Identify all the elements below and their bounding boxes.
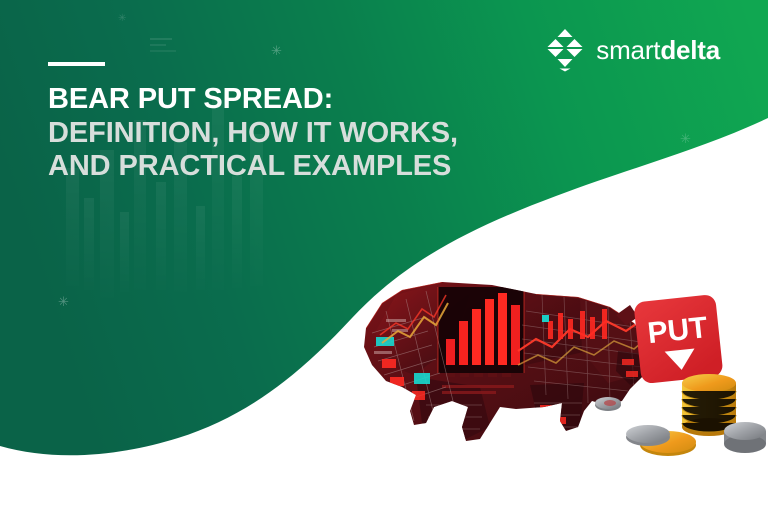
title-rule: [48, 62, 105, 66]
page-title-line-2: Definition, How It Works, And Practical …: [48, 117, 478, 184]
bear-figure: [364, 275, 650, 441]
brand-name-light: smart: [596, 35, 660, 65]
page-title-line-1: Bear Put Spread:: [48, 83, 478, 117]
brand-logo-text: smartdelta: [596, 37, 720, 63]
silver-coin-stray: [595, 397, 621, 411]
brand-logo[interactable]: smartdelta: [545, 28, 720, 72]
sparkle-icon: ✳: [118, 14, 126, 24]
silver-coin-small: [626, 425, 670, 446]
diamond-triangles-icon: [545, 28, 585, 72]
illustration-svg: PUT: [330, 255, 768, 470]
page-title: Bear Put Spread: Definition, How It Work…: [48, 83, 478, 184]
banner-image: ✳ ✳ ✳ ✳ smartdelta: [0, 0, 768, 511]
illustration-group: PUT: [330, 255, 768, 470]
sparkle-icon: ✳: [271, 44, 282, 57]
put-sign-label: PUT: [646, 311, 709, 350]
sparkle-icon: ✳: [680, 132, 691, 145]
silver-coin-right: [724, 422, 766, 453]
sparkle-icon: ✳: [58, 295, 69, 308]
put-sign: PUT: [633, 294, 723, 384]
brand-name-bold: delta: [660, 35, 720, 65]
